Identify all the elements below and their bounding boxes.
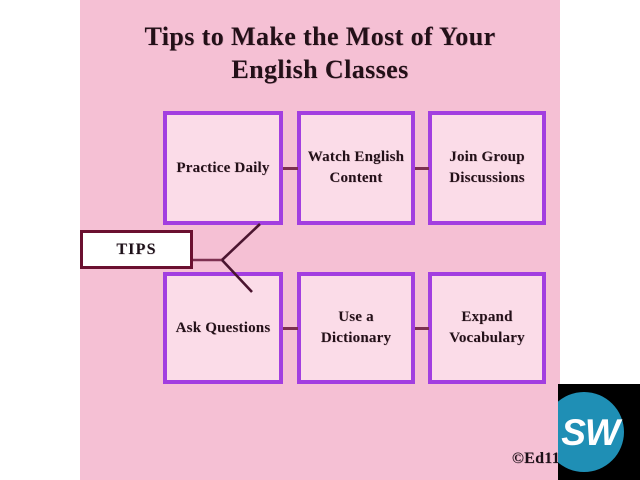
tip-box-ask-questions[interactable]: Ask Questions (163, 272, 283, 384)
page-title: Tips to Make the Most of Your English Cl… (80, 20, 560, 86)
connector-line-top-1 (283, 167, 298, 170)
page-title-line-1: Tips to Make the Most of Your (80, 20, 560, 53)
tip-label: Watch English Content (301, 147, 411, 189)
tip-box-join-group-discussions[interactable]: Join Group Discussions (428, 111, 546, 225)
connector-line-top-2 (415, 167, 429, 170)
tip-label: Practice Daily (170, 158, 275, 179)
page-title-line-2: English Classes (80, 53, 560, 86)
poster-panel: Tips to Make the Most of Your English Cl… (80, 0, 560, 480)
tip-box-practice-daily[interactable]: Practice Daily (163, 111, 283, 225)
sw-circle-icon: SW (558, 392, 624, 472)
tip-label: Join Group Discussions (432, 147, 542, 189)
sw-watermark-logo: SW (558, 384, 640, 480)
tip-label: Ask Questions (170, 318, 277, 339)
copyright-text: ©Ed11 (460, 450, 560, 468)
tip-box-use-a-dictionary[interactable]: Use a Dictionary (297, 272, 415, 384)
screenshot-canvas: Tips to Make the Most of Your English Cl… (0, 0, 640, 480)
tip-label: Use a Dictionary (301, 307, 411, 349)
tip-box-expand-vocabulary[interactable]: Expand Vocabulary (428, 272, 546, 384)
tip-label: Expand Vocabulary (432, 307, 542, 349)
tips-root-label: TIPS (116, 241, 156, 259)
sw-initials: SW (561, 414, 619, 451)
connector-line-bottom-2 (415, 327, 429, 330)
connector-line-bottom-1 (283, 327, 298, 330)
tip-box-watch-english-content[interactable]: Watch English Content (297, 111, 415, 225)
tips-root-node[interactable]: TIPS (80, 230, 193, 269)
